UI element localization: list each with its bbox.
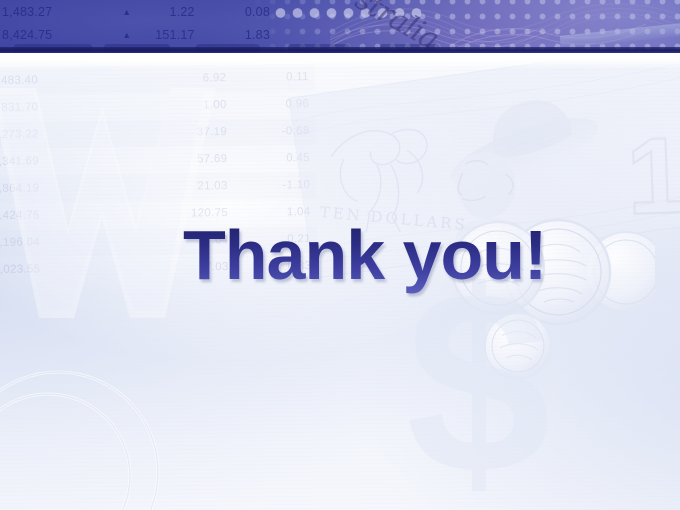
ticker-row: 8,424.75 ▲ 151.17 1.83 [0,23,270,46]
ticker-change: 151.17 [137,28,194,42]
banner-ticker: 1,483.27 ▲ 1.22 0.08 8,424.75 ▲ 151.17 1… [0,0,270,46]
banner-under-fade [0,53,680,69]
ticker-percent: 1.83 [195,28,270,42]
page-title: Thank you! [183,211,603,299]
ticker-row: 1,483.27 ▲ 1.22 0.08 [0,0,270,23]
ticker-up-arrow-icon: ▲ [87,7,137,17]
title-block: Thank you! Thank you! [183,211,603,299]
header-banner: stralia 1,483.27 ▲ 1.22 0.08 8,424.75 ▲ … [0,0,680,53]
ticker-index-value: 8,424.75 [0,28,87,42]
slide-canvas: 1,483.40 6.92 0.11 3,831.70 1.00 0.96 2,… [0,0,680,510]
ticker-change: 1.22 [137,5,194,19]
ticker-percent: 0.08 [195,5,270,19]
ticker-index-value: 1,483.27 [0,5,87,19]
ticker-up-arrow-icon: ▲ [87,30,137,40]
